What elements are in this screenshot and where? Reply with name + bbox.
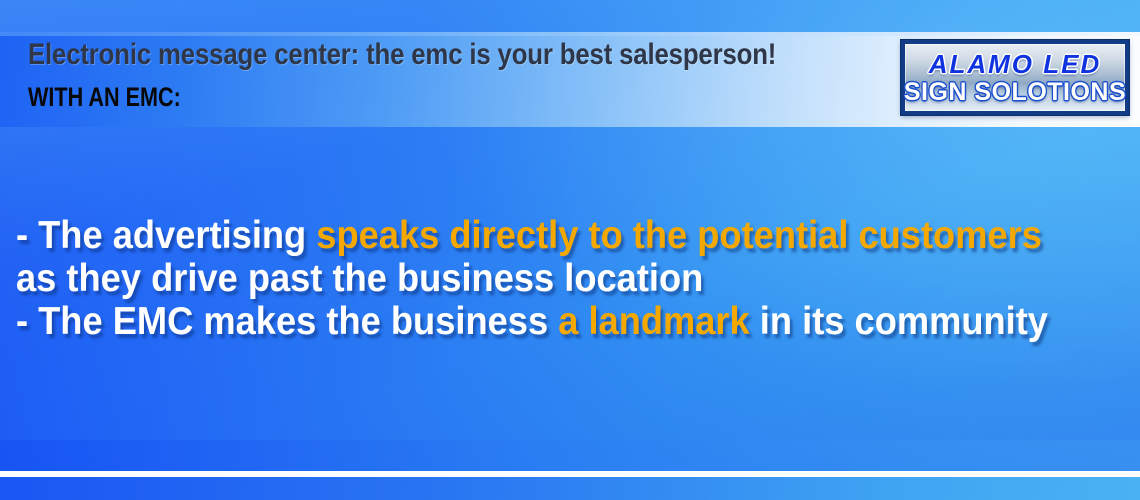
bullet-list: - The advertising speaks directly to the… xyxy=(16,214,1140,343)
bullet-line: as they drive past the business location xyxy=(16,257,1061,300)
logo-brand-name: ALAMO LED xyxy=(929,50,1102,78)
page-subtitle: WITH AN EMC: xyxy=(28,82,181,112)
bullet-plain-text: as they drive past the business location xyxy=(16,257,703,300)
alamo-led-logo: ALAMO LED SIGN SOLOTIONS xyxy=(901,40,1129,115)
bullet-highlight-text: speaks directly to the potential custome… xyxy=(316,214,1042,257)
bullet-plain-text: - The EMC makes the business xyxy=(16,300,558,343)
white-divider-stripe xyxy=(0,471,1140,477)
slide-canvas: Electronic message center: the emc is yo… xyxy=(0,0,1140,500)
bullet-highlight-text: a landmark xyxy=(558,300,750,343)
bullet-line: - The advertising speaks directly to the… xyxy=(16,214,1061,257)
header-band-accent xyxy=(0,32,1140,36)
logo-tagline: SIGN SOLOTIONS xyxy=(904,79,1126,106)
bullet-plain-text: in its community xyxy=(750,300,1048,343)
bottom-blue-band xyxy=(0,477,1140,500)
lower-tint-band xyxy=(0,440,1140,471)
bullet-plain-text: - The advertising xyxy=(16,214,316,257)
page-title: Electronic message center: the emc is yo… xyxy=(28,38,776,72)
bullet-line: - The EMC makes the business a landmark … xyxy=(16,300,1061,343)
